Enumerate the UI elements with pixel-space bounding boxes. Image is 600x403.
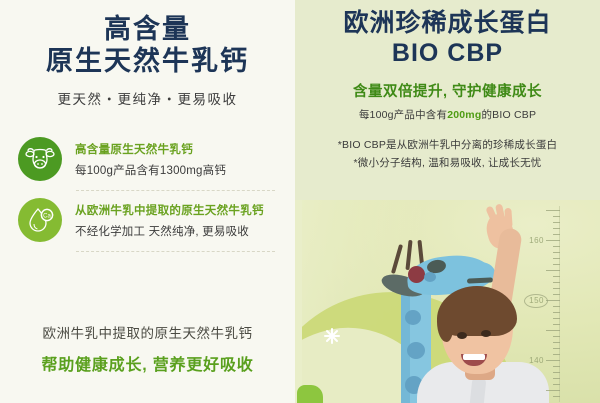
wall-height-ruler: 160 150 [516, 206, 578, 402]
right-notes: *BIO CBP是从欧洲牛乳中分离的珍稀成长蛋白 *微小分子结构, 温和易吸收,… [295, 136, 600, 172]
giraffe-horn [391, 244, 403, 274]
right-title-line2: BIO CBP [295, 38, 600, 68]
giraffe-horn [405, 240, 412, 270]
left-panel-calcium: 高含量 原生天然牛乳钙 更天然・更纯净・更易吸收 [0, 0, 295, 403]
right-note-1: *BIO CBP是从欧洲牛乳中分离的珍稀成长蛋白 [295, 136, 600, 154]
ruler-tick [553, 396, 560, 397]
svg-text:Ca: Ca [43, 214, 51, 220]
feature-item-high-calcium: 高含量原生天然牛乳钙 每100g产品含有1300mg高钙 [18, 130, 279, 190]
giraffe-spot [405, 310, 421, 325]
child-teeth [463, 354, 485, 360]
ruler-tick [553, 372, 560, 373]
right-note-2: *微小分子结构, 温和易吸收, 让成长无忧 [295, 154, 600, 172]
child-hair-side [437, 308, 453, 342]
right-header: 欧洲珍稀成长蛋白 BIO CBP 含量双倍提升, 守护健康成长 每100g产品中… [295, 0, 600, 172]
right-subtext-suffix: 的BIO CBP [481, 109, 536, 121]
left-title-line2: 原生天然牛乳钙 [0, 44, 295, 78]
ruler-label-150: 150 [529, 296, 544, 305]
right-subtext-prefix: 每100g产品中含有 [359, 109, 447, 121]
child-eye [481, 330, 491, 337]
right-title-line1: 欧洲珍稀成长蛋白 [295, 8, 600, 38]
ruler-tick [553, 336, 560, 337]
feature-text: 从欧洲牛乳中提取的原生天然牛乳钙 不经化学加工 天然纯净, 更易吸收 [75, 202, 264, 239]
ruler-tick [546, 330, 560, 331]
ruler-tick [553, 276, 560, 277]
ruler-tick [553, 222, 560, 223]
ruler-tick [553, 282, 560, 283]
ruler-tick [553, 258, 560, 259]
left-title-line1: 高含量 [0, 14, 295, 44]
left-footer-line1: 欧洲牛乳中提取的原生天然牛乳钙 [0, 322, 295, 342]
ruler-tick [553, 216, 560, 217]
ruler-tick [553, 288, 560, 289]
left-header: 高含量 原生天然牛乳钙 更天然・更纯净・更易吸收 [0, 0, 295, 108]
ruler-tick [553, 228, 560, 229]
ruler-tick [553, 264, 560, 265]
feature-item-european-milk: Ca 从欧洲牛乳中提取的原生天然牛乳钙 不经化学加工 天然纯净, 更易吸收 [18, 191, 279, 251]
right-green-headline: 含量双倍提升, 守护健康成长 [295, 80, 600, 101]
child-eye [457, 332, 467, 339]
ruler-tick [546, 360, 560, 361]
ruler-tick [553, 384, 560, 385]
ruler-tick [553, 318, 560, 319]
photo-green-blob [297, 385, 323, 403]
right-panel-bio-cbp: 欧洲珍稀成长蛋白 BIO CBP 含量双倍提升, 守护健康成长 每100g产品中… [295, 0, 600, 403]
ruler-tick [553, 366, 560, 367]
feature-list: 高含量原生天然牛乳钙 每100g产品含有1300mg高钙 Ca 从欧洲 [0, 130, 295, 252]
left-footer-line2: 帮助健康成长, 营养更好吸收 [0, 351, 295, 375]
ruler-tick [546, 270, 560, 271]
right-subtext-highlight: 200mg [447, 109, 481, 121]
product-detail-page: 高含量 原生天然牛乳钙 更天然・更纯净・更易吸收 [0, 0, 600, 403]
feature-divider [76, 251, 275, 252]
cow-head-icon [18, 137, 62, 181]
feature-heading: 高含量原生天然牛乳钙 [75, 141, 226, 157]
feature-detail: 不经化学加工 天然纯净, 更易吸收 [75, 223, 264, 239]
ruler-tick [553, 354, 560, 355]
ruler-tick [553, 252, 560, 253]
ruler-tick [553, 312, 560, 313]
ruler-tick [553, 294, 560, 295]
ruler-tick [553, 234, 560, 235]
ruler-tick [553, 342, 560, 343]
ruler-tick [546, 240, 560, 241]
flower-decoration-icon [323, 327, 341, 345]
photo-left-strip [295, 200, 302, 403]
right-subtext: 每100g产品中含有200mg的BIO CBP [295, 107, 600, 122]
ruler-tick [546, 300, 560, 301]
giraffe-cheek [408, 266, 425, 283]
ruler-tick [546, 390, 560, 391]
feature-text: 高含量原生天然牛乳钙 每100g产品含有1300mg高钙 [75, 141, 226, 178]
left-footer: 欧洲牛乳中提取的原生天然牛乳钙 帮助健康成长, 营养更好吸收 [0, 322, 295, 375]
ruler-tick [553, 306, 560, 307]
ruler-label-160: 160 [529, 236, 544, 245]
ruler-label-140: 140 [529, 356, 544, 365]
left-subtitle: 更天然・更纯净・更易吸收 [0, 88, 295, 108]
giraffe-spot [407, 342, 425, 359]
feature-heading: 从欧洲牛乳中提取的原生天然牛乳钙 [75, 202, 264, 218]
ruler-tick [553, 246, 560, 247]
ruler-tick [553, 378, 560, 379]
ruler-tick [553, 348, 560, 349]
calcium-droplet-icon: Ca [18, 198, 62, 242]
product-lifestyle-photo: 160 150 [295, 200, 600, 403]
ruler-tick [546, 210, 560, 211]
feature-detail: 每100g产品含有1300mg高钙 [75, 162, 226, 178]
ruler-tick [553, 324, 560, 325]
